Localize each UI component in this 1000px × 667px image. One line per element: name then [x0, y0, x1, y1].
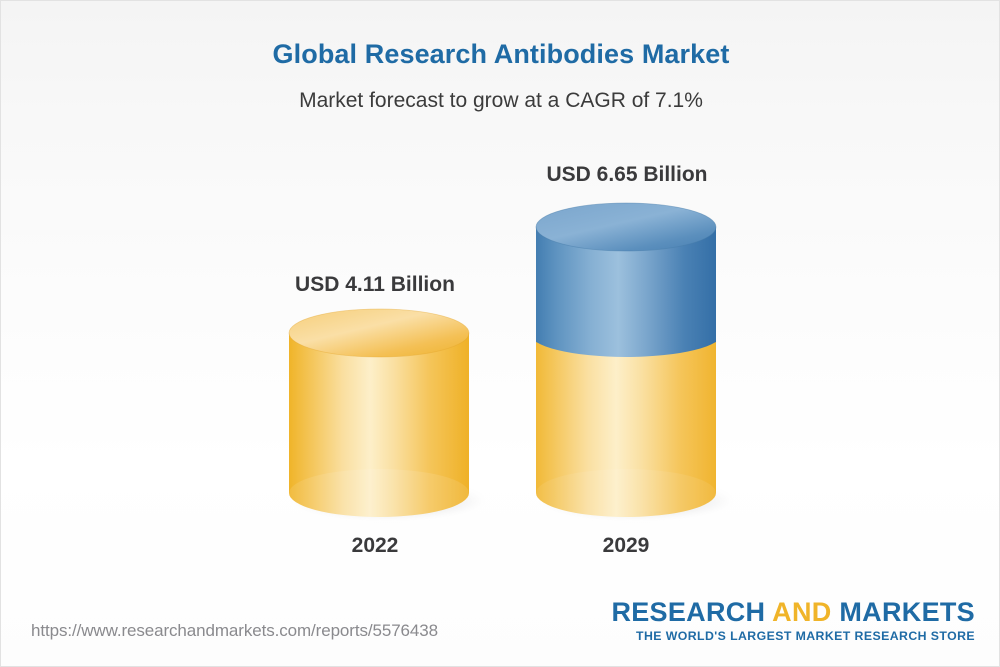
logo-word-and: AND — [772, 597, 831, 627]
page-subtitle: Market forecast to grow at a CAGR of 7.1… — [1, 89, 1000, 113]
bar-category-label-2022: 2022 — [295, 534, 455, 558]
logo-wordmark: RESEARCH AND MARKETS — [611, 599, 975, 627]
logo-word-research: RESEARCH — [611, 597, 765, 627]
page-title: Global Research Antibodies Market — [1, 39, 1000, 70]
bar-cylinder-2022-graphic — [283, 307, 475, 522]
bar-category-label-2029: 2029 — [545, 534, 707, 558]
bar-cylinder-2022 — [283, 307, 475, 522]
infographic-canvas: Global Research Antibodies Market Market… — [0, 0, 1000, 667]
logo-tagline: THE WORLD'S LARGEST MARKET RESEARCH STOR… — [611, 629, 975, 643]
bar-value-label-2022: USD 4.11 Billion — [255, 273, 495, 297]
logo-word-markets: MARKETS — [839, 597, 975, 627]
bar-value-label-2029: USD 6.65 Billion — [505, 163, 749, 187]
bar-cylinder-2029-graphic — [529, 200, 723, 522]
bar-cylinder-2029 — [529, 200, 723, 522]
source-url[interactable]: https://www.researchandmarkets.com/repor… — [31, 621, 438, 641]
research-and-markets-logo[interactable]: RESEARCH AND MARKETS THE WORLD'S LARGEST… — [611, 599, 975, 643]
